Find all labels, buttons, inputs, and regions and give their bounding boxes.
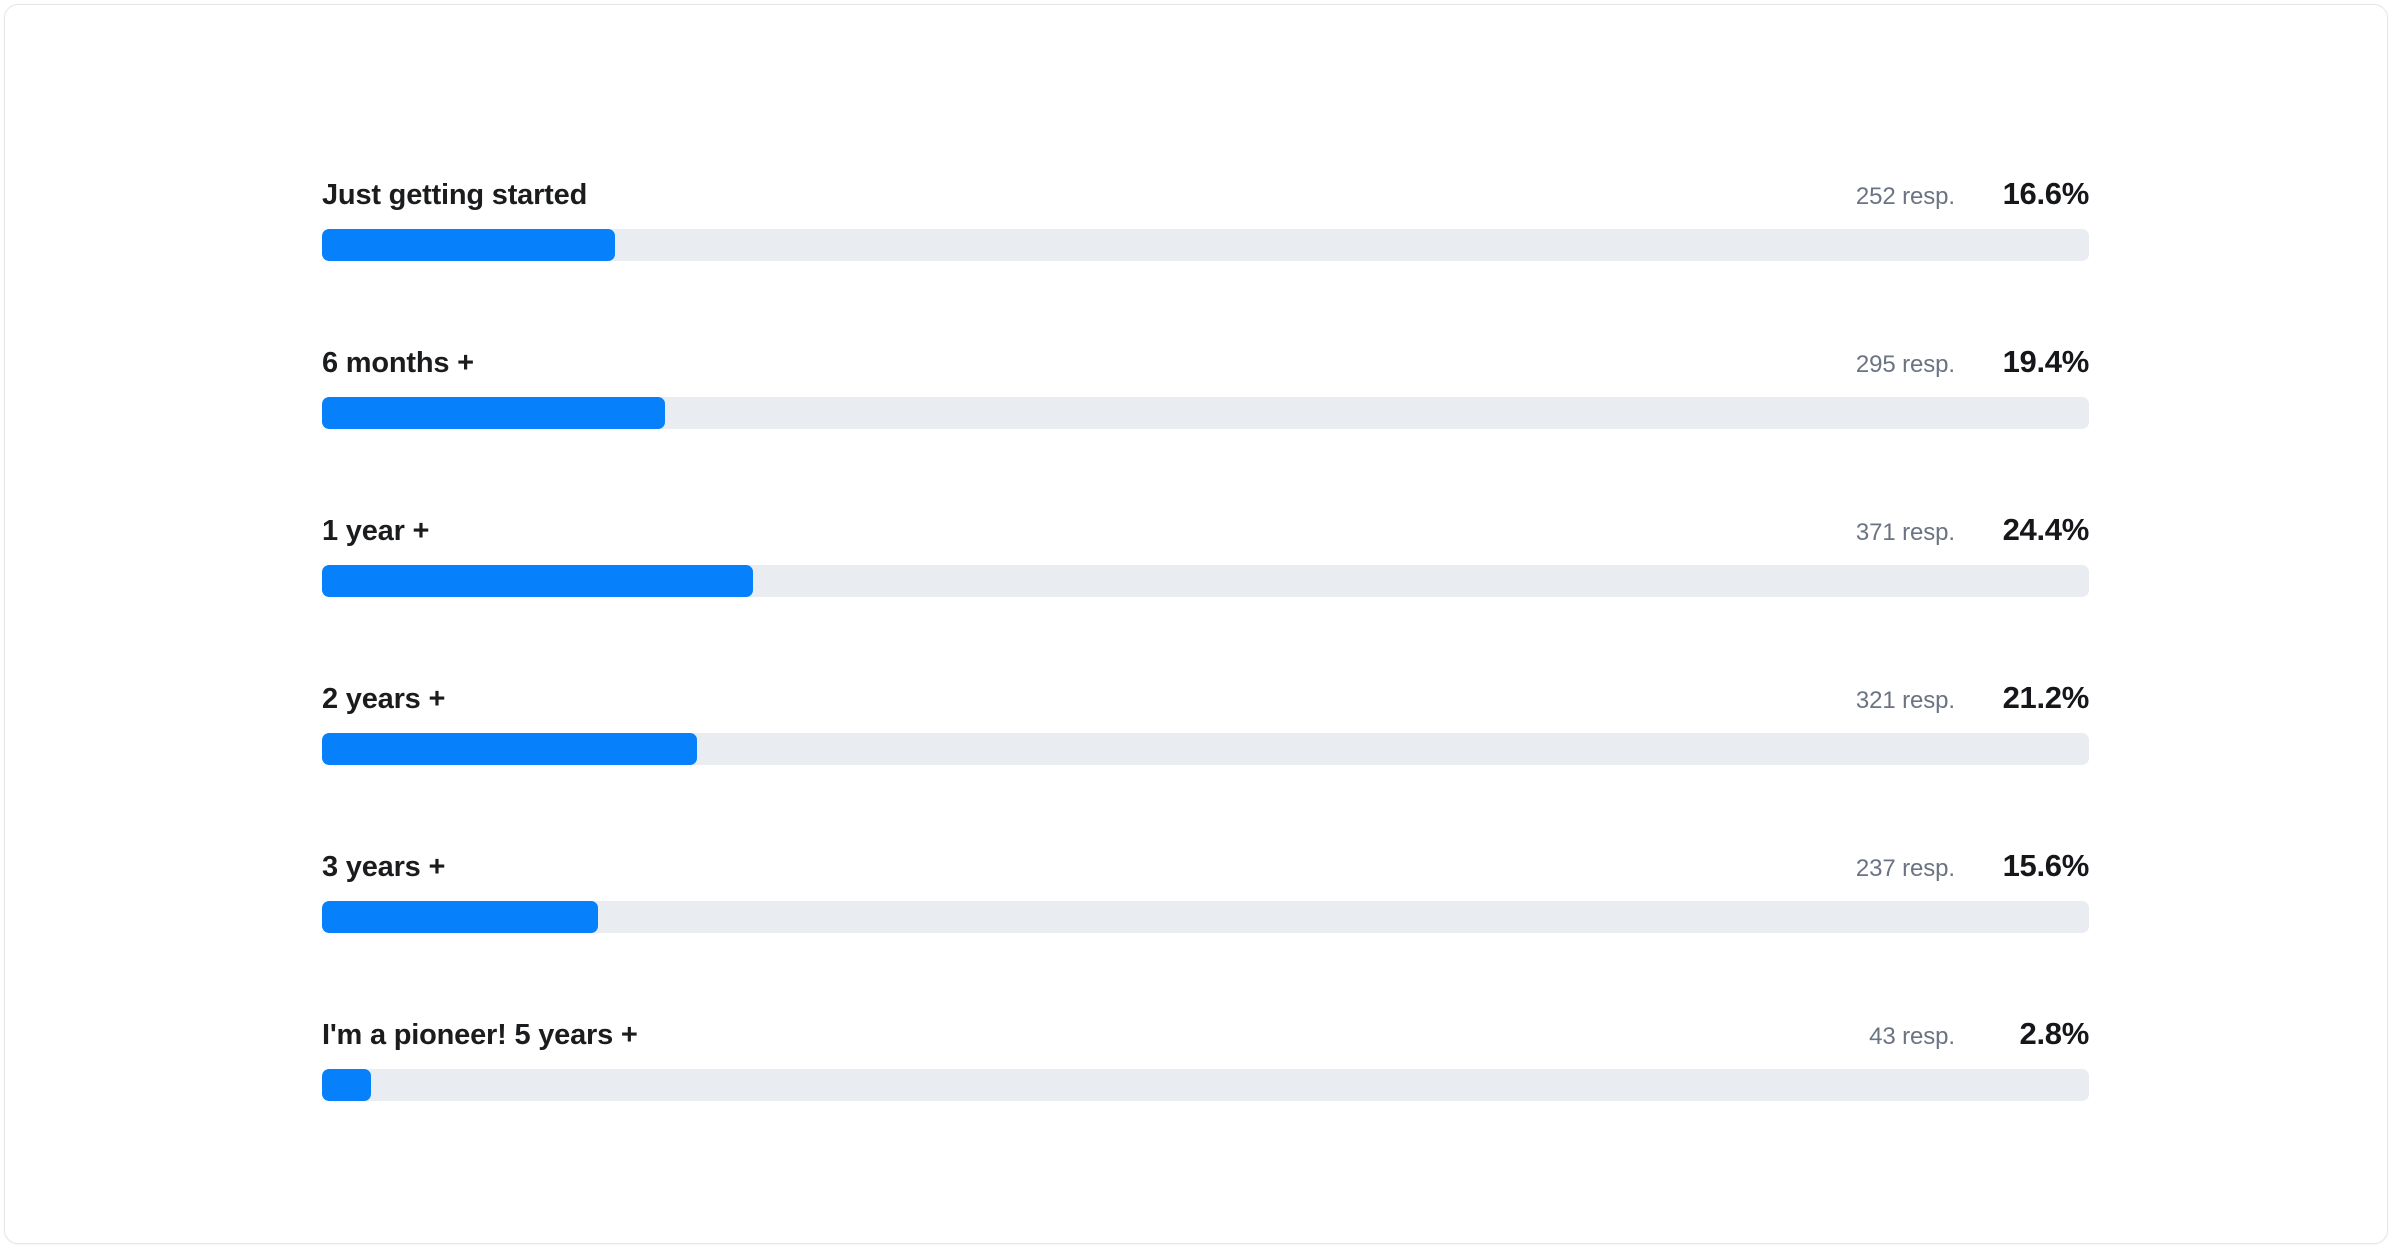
bar-row-label: Just getting started [322, 174, 587, 216]
bar-row-label: 2 years + [322, 678, 445, 720]
bar-track [322, 1069, 2089, 1101]
bar-row-response-count: 371 resp. [1856, 512, 1955, 554]
bar-track [322, 565, 2089, 597]
bar-row-header: 3 years +237 resp.15.6% [322, 845, 2089, 887]
bar-fill [322, 229, 615, 261]
bar-row-label: I'm a pioneer! 5 years + [322, 1014, 638, 1056]
bar-row-response-count: 252 resp. [1856, 176, 1955, 218]
bar-row-response-count: 295 resp. [1856, 344, 1955, 386]
bar-track [322, 229, 2089, 261]
bar-row-stats: 321 resp.21.2% [1856, 677, 2089, 722]
bar-row-header: 6 months +295 resp.19.4% [322, 341, 2089, 383]
bar-row-stats: 295 resp.19.4% [1856, 341, 2089, 386]
bar-fill [322, 733, 697, 765]
bar-row-percent: 24.4% [1981, 509, 2089, 551]
bar-fill [322, 397, 665, 429]
bar-row-response-count: 237 resp. [1856, 848, 1955, 890]
bar-row-header: 2 years +321 resp.21.2% [322, 677, 2089, 719]
bar-row-percent: 19.4% [1981, 341, 2089, 383]
survey-results-card: Just getting started252 resp.16.6%6 mont… [4, 4, 2388, 1244]
bar-row-header: I'm a pioneer! 5 years +43 resp.2.8% [322, 1013, 2089, 1055]
bar-fill [322, 565, 753, 597]
bar-row-stats: 43 resp.2.8% [1869, 1013, 2089, 1058]
bar-row-stats: 371 resp.24.4% [1856, 509, 2089, 554]
bar-row: 2 years +321 resp.21.2% [322, 677, 2089, 765]
bar-row-stats: 237 resp.15.6% [1856, 845, 2089, 890]
bar-fill [322, 901, 598, 933]
bar-track [322, 733, 2089, 765]
bar-row-percent: 21.2% [1981, 677, 2089, 719]
bar-row: 3 years +237 resp.15.6% [322, 845, 2089, 933]
bar-row-label: 6 months + [322, 342, 474, 384]
horizontal-bar-chart: Just getting started252 resp.16.6%6 mont… [322, 173, 2089, 1101]
bar-track [322, 397, 2089, 429]
bar-row: 6 months +295 resp.19.4% [322, 341, 2089, 429]
bar-row-response-count: 43 resp. [1869, 1016, 1955, 1058]
bar-row: I'm a pioneer! 5 years +43 resp.2.8% [322, 1013, 2089, 1101]
bar-row-stats: 252 resp.16.6% [1856, 173, 2089, 218]
bar-track [322, 901, 2089, 933]
bar-row-header: 1 year +371 resp.24.4% [322, 509, 2089, 551]
bar-row-label: 1 year + [322, 510, 429, 552]
bar-row-header: Just getting started252 resp.16.6% [322, 173, 2089, 215]
bar-row-response-count: 321 resp. [1856, 680, 1955, 722]
bar-row: 1 year +371 resp.24.4% [322, 509, 2089, 597]
bar-fill [322, 1069, 371, 1101]
bar-row: Just getting started252 resp.16.6% [322, 173, 2089, 261]
bar-row-percent: 2.8% [1981, 1013, 2089, 1055]
bar-row-percent: 16.6% [1981, 173, 2089, 215]
bar-row-label: 3 years + [322, 846, 445, 888]
bar-row-percent: 15.6% [1981, 845, 2089, 887]
